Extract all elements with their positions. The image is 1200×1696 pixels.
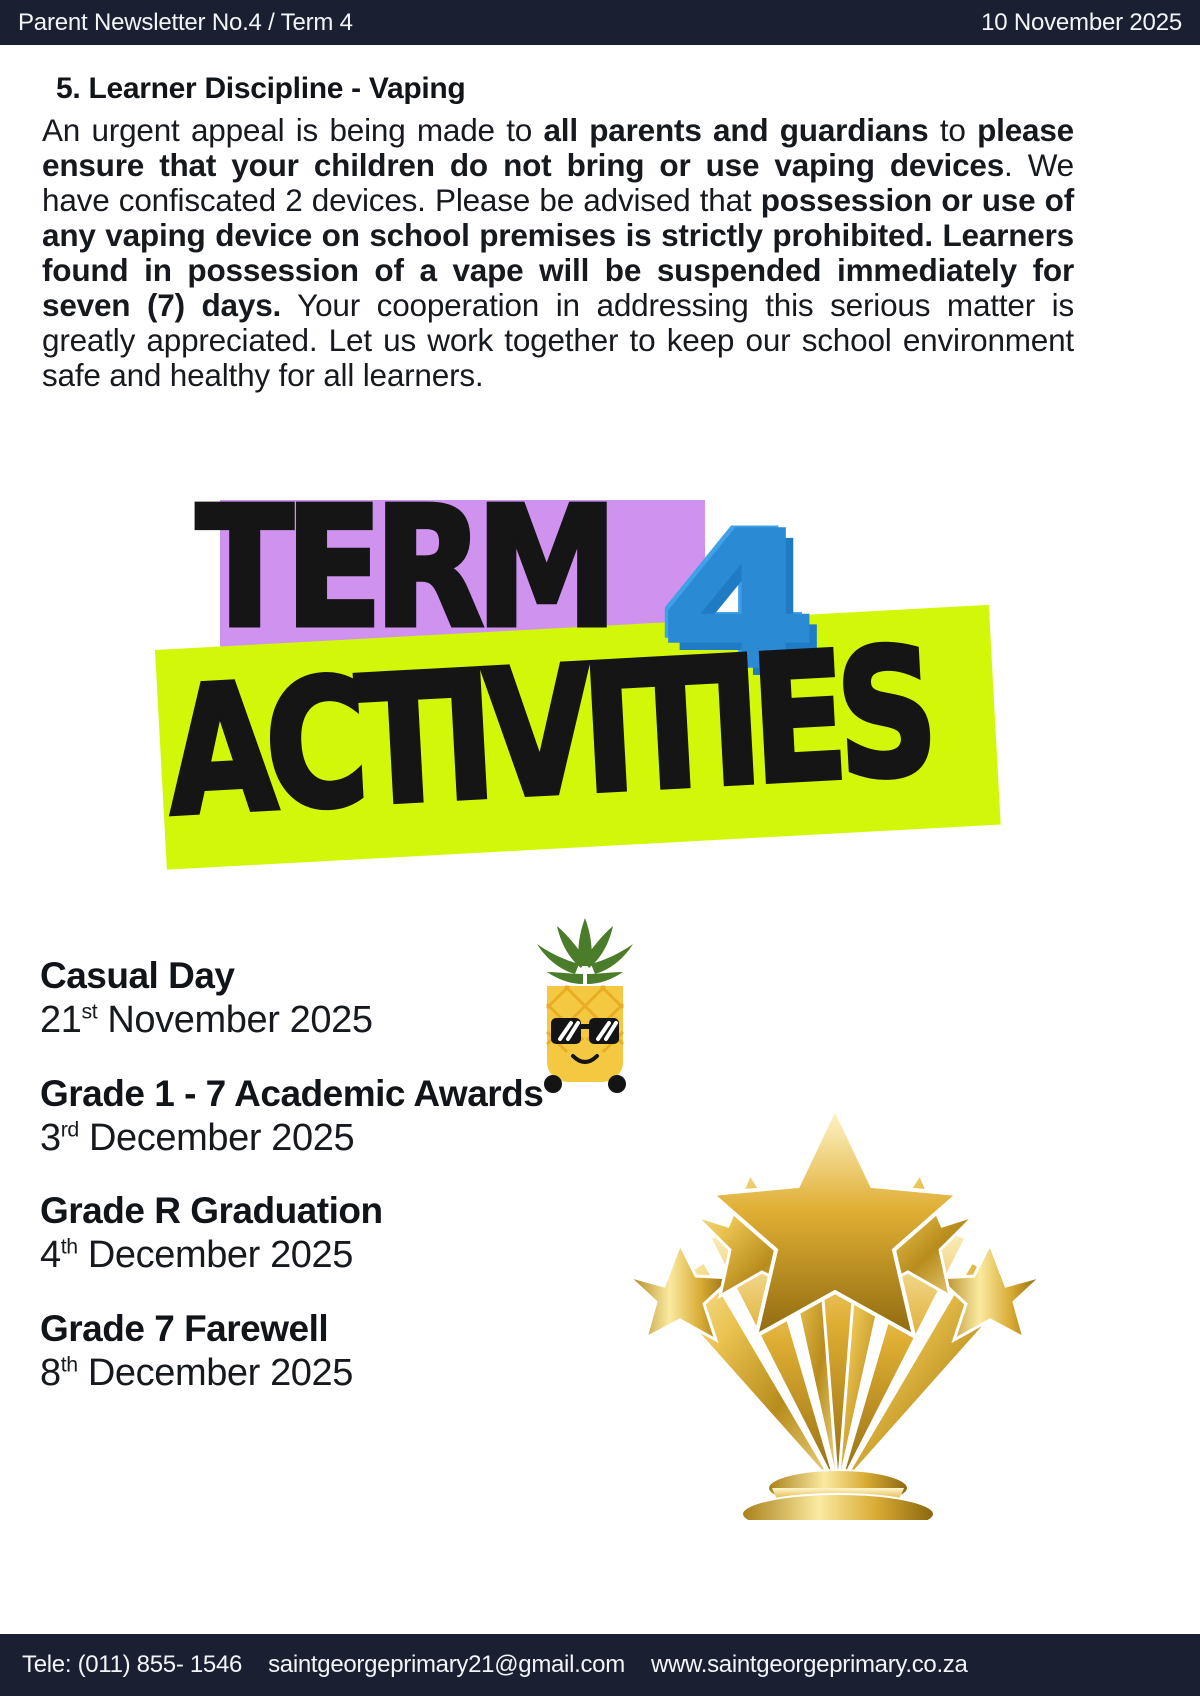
banner-word-term: TERM	[196, 486, 609, 652]
event-date: 8th December 2025	[40, 1351, 800, 1396]
event-item: Grade 7 Farewell 8th December 2025	[40, 1308, 800, 1396]
footer-telephone: Tele: (011) 855- 1546	[22, 1651, 242, 1679]
event-title: Grade R Graduation	[40, 1190, 800, 1233]
banner-word-activities: ACTIVITIES	[163, 624, 932, 840]
event-title: Casual Day	[40, 955, 800, 998]
event-item: Grade 1 - 7 Academic Awards 3rd December…	[40, 1073, 800, 1161]
event-date: 21st November 2025	[40, 998, 800, 1043]
page-header-bar: Parent Newsletter No.4 / Term 4 10 Novem…	[0, 0, 1200, 45]
section-heading: 5. Learner Discipline - Vaping	[56, 72, 465, 106]
page-footer-bar: Tele: (011) 855- 1546 saintgeorgeprimary…	[0, 1634, 1200, 1696]
footer-email[interactable]: saintgeorgeprimary21@gmail.com	[268, 1651, 625, 1679]
event-title: Grade 1 - 7 Academic Awards	[40, 1073, 800, 1116]
event-date: 3rd December 2025	[40, 1116, 800, 1161]
event-title: Grade 7 Farewell	[40, 1308, 800, 1351]
article-paragraph: An urgent appeal is being made to all pa…	[42, 113, 1074, 393]
newsletter-title: Parent Newsletter No.4 / Term 4	[18, 9, 353, 37]
event-item: Casual Day 21st November 2025	[40, 955, 800, 1043]
event-item: Grade R Graduation 4th December 2025	[40, 1190, 800, 1278]
newsletter-page: Parent Newsletter No.4 / Term 4 10 Novem…	[0, 0, 1200, 1696]
newsletter-date: 10 November 2025	[981, 9, 1182, 37]
event-date: 4th December 2025	[40, 1233, 800, 1278]
footer-website[interactable]: www.saintgeorgeprimary.co.za	[651, 1651, 968, 1679]
events-list: Casual Day 21st November 2025 Grade 1 - …	[40, 955, 800, 1426]
term-activities-banner: TERM 4 ACTIVITIES	[0, 480, 1200, 900]
